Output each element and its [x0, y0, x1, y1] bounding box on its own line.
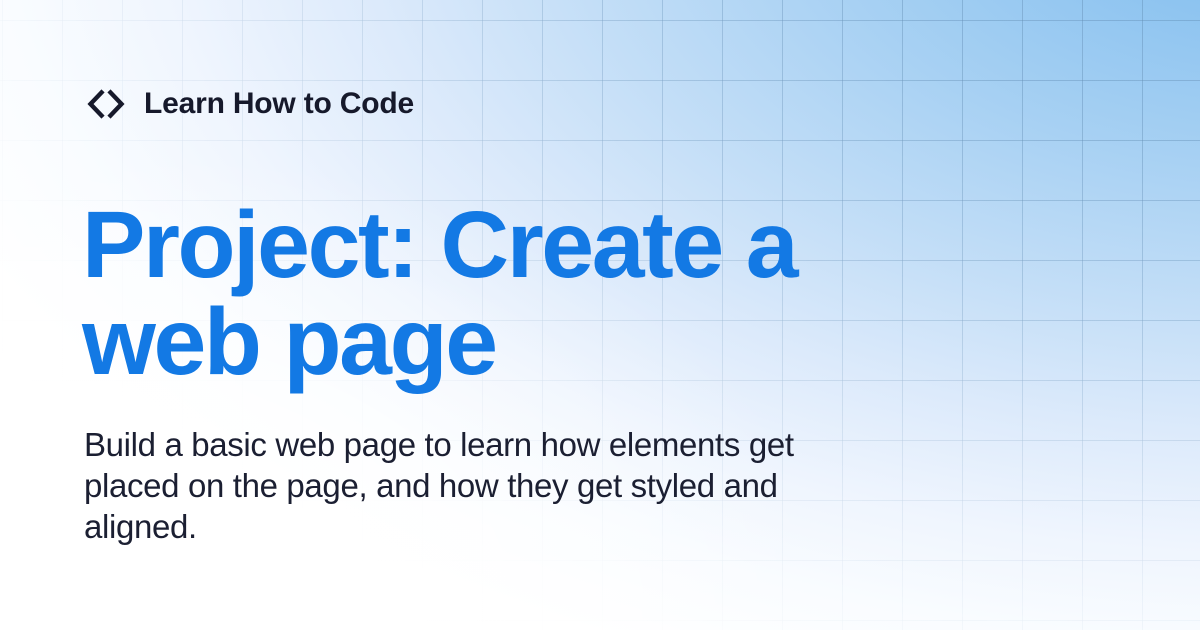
brand-header: Learn How to Code: [84, 84, 414, 124]
page-description: Build a basic web page to learn how elem…: [84, 424, 874, 547]
code-brackets-icon: [84, 87, 128, 121]
brand-title: Learn How to Code: [144, 87, 414, 121]
hero-banner: Learn How to Code Project: Create a web …: [0, 0, 1200, 630]
page-title: Project: Create a web page: [82, 197, 982, 391]
banner-content: Learn How to Code Project: Create a web …: [0, 0, 1200, 630]
